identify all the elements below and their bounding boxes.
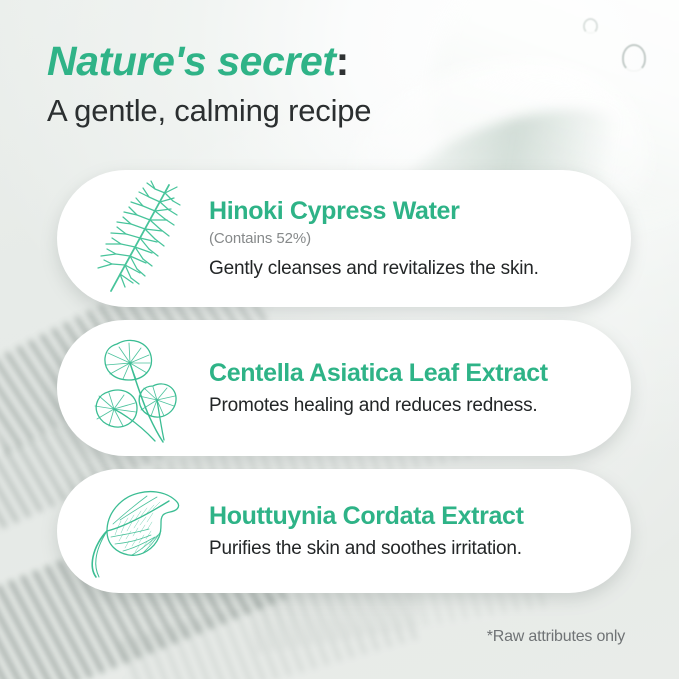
ingredient-title: Hinoki Cypress Water <box>209 197 601 226</box>
headline-block: Nature's secret: A gentle, calming recip… <box>47 38 647 129</box>
ingredient-card[interactable]: Hinoki Cypress Water (Contains 52%) Gent… <box>57 170 631 307</box>
ingredient-card-text: Hinoki Cypress Water (Contains 52%) Gent… <box>209 197 631 281</box>
ingredient-description: Purifies the skin and soothes irritation… <box>209 538 601 560</box>
page-subtitle: A gentle, calming recipe <box>47 94 647 129</box>
centella-leaves-icon <box>57 320 209 456</box>
water-droplet-small-icon <box>583 18 598 34</box>
page-title: Nature's secret: <box>47 38 647 85</box>
ingredient-card-list: Hinoki Cypress Water (Contains 52%) Gent… <box>57 170 631 606</box>
headline-emphasis: Nature's secret <box>47 38 336 84</box>
ingredient-description: Gently cleanses and revitalizes the skin… <box>209 258 601 280</box>
footnote: *Raw attributes only <box>487 628 625 646</box>
ingredient-amount: (Contains 52%) <box>209 230 601 247</box>
ingredient-description: Promotes healing and reduces redness. <box>209 395 601 417</box>
ingredient-title: Houttuynia Cordata Extract <box>209 502 601 531</box>
cypress-sprig-icon <box>57 170 209 307</box>
infographic-canvas: Nature's secret: A gentle, calming recip… <box>0 0 679 679</box>
houttuynia-leaf-icon <box>57 469 209 593</box>
ingredient-title: Centella Asiatica Leaf Extract <box>209 359 601 388</box>
ingredient-card-text: Houttuynia Cordata Extract Purifies the … <box>209 502 631 560</box>
ingredient-card[interactable]: Houttuynia Cordata Extract Purifies the … <box>57 469 631 593</box>
headline-colon: : <box>336 38 350 84</box>
ingredient-card[interactable]: Centella Asiatica Leaf Extract Promotes … <box>57 320 631 456</box>
ingredient-card-text: Centella Asiatica Leaf Extract Promotes … <box>209 359 631 417</box>
